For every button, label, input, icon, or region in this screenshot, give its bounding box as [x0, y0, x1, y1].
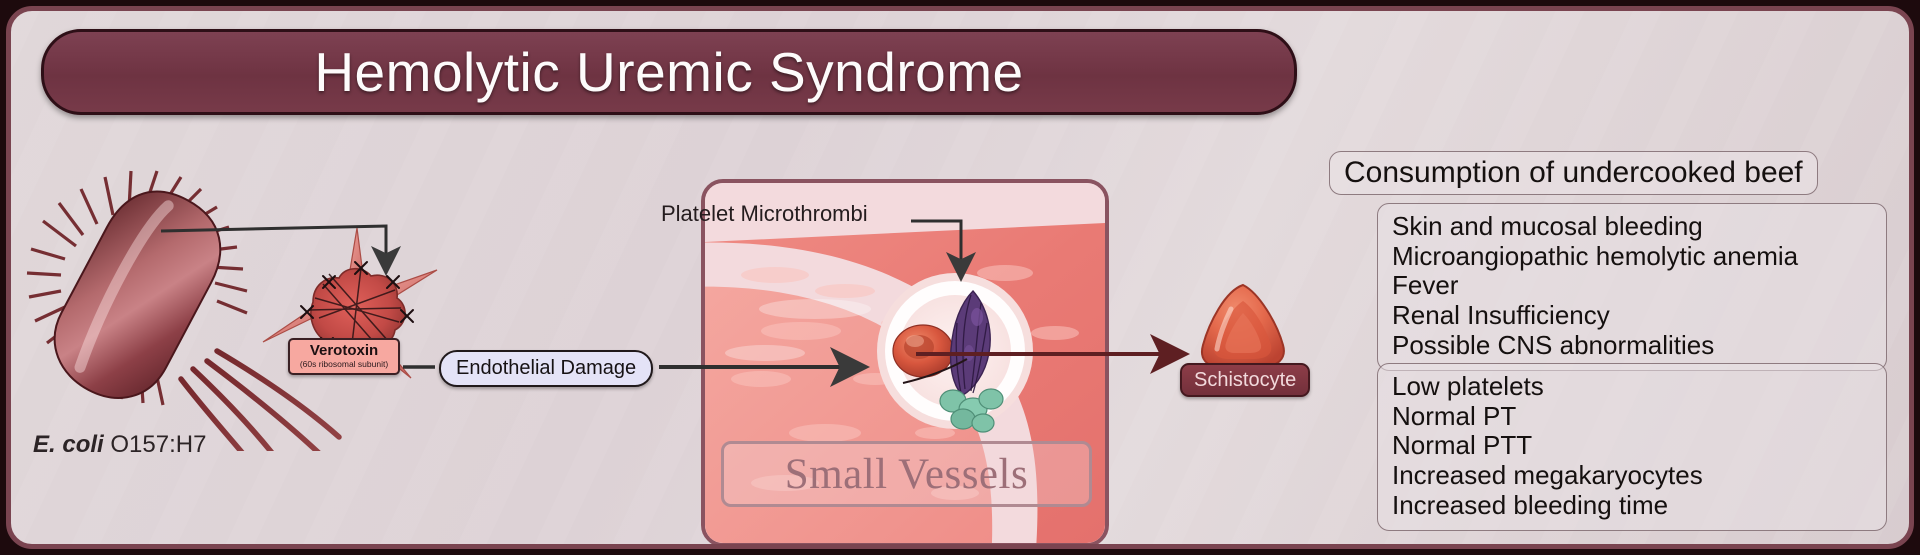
endothelial-damage-text: Endothelial Damage — [456, 357, 636, 380]
list-item: Fever — [1392, 271, 1872, 301]
schistocyte-text: Schistocyte — [1194, 369, 1296, 392]
list-item: Renal Insufficiency — [1392, 301, 1872, 331]
ecoli-serotype: O157:H7 — [110, 431, 206, 458]
cause-text: Consumption of undercooked beef — [1344, 156, 1803, 190]
endothelial-damage-label: Endothelial Damage — [439, 350, 653, 387]
schistocyte-label: Schistocyte — [1180, 363, 1310, 397]
platelet-microthrombi-text: Platelet Microthrombi — [661, 201, 868, 226]
list-item: Normal PT — [1392, 402, 1872, 432]
small-vessels-label-box: Small Vessels — [721, 441, 1092, 507]
list-item: Normal PTT — [1392, 431, 1872, 461]
infographic-root: Hemolytic Uremic Syndrome — [0, 0, 1920, 555]
ecoli-label: E. coli O157:H7 — [33, 431, 206, 459]
page-title: Hemolytic Uremic Syndrome — [314, 40, 1023, 104]
schistocyte-rbc-icon — [1191, 279, 1301, 374]
clinical-findings-box: Skin and mucosal bleeding Microangiopath… — [1377, 203, 1887, 371]
title-banner: Hemolytic Uremic Syndrome — [41, 29, 1297, 115]
ecoli-species: E. coli — [33, 431, 104, 458]
list-item: Skin and mucosal bleeding — [1392, 212, 1872, 242]
list-item: Increased megakaryocytes — [1392, 461, 1872, 491]
list-item: Increased bleeding time — [1392, 491, 1872, 521]
list-item: Possible CNS abnormalities — [1392, 331, 1872, 361]
list-item: Microangiopathic hemolytic anemia — [1392, 242, 1872, 272]
cause-box: Consumption of undercooked beef — [1329, 151, 1818, 195]
outer-frame: Hemolytic Uremic Syndrome — [0, 0, 1920, 555]
lab-findings-box: Low platelets Normal PT Normal PTT Incre… — [1377, 363, 1887, 531]
inner-frame: Hemolytic Uremic Syndrome — [6, 6, 1914, 549]
verotoxin-label-box: Verotoxin (60s ribosomal subunit) — [288, 338, 400, 375]
platelet-microthrombi-label: Platelet Microthrombi — [661, 201, 868, 227]
verotoxin-subtitle: (60s ribosomal subunit) — [294, 360, 394, 369]
list-item: Low platelets — [1392, 372, 1872, 402]
verotoxin-title: Verotoxin — [294, 343, 394, 359]
small-vessels-text: Small Vessels — [785, 450, 1028, 499]
